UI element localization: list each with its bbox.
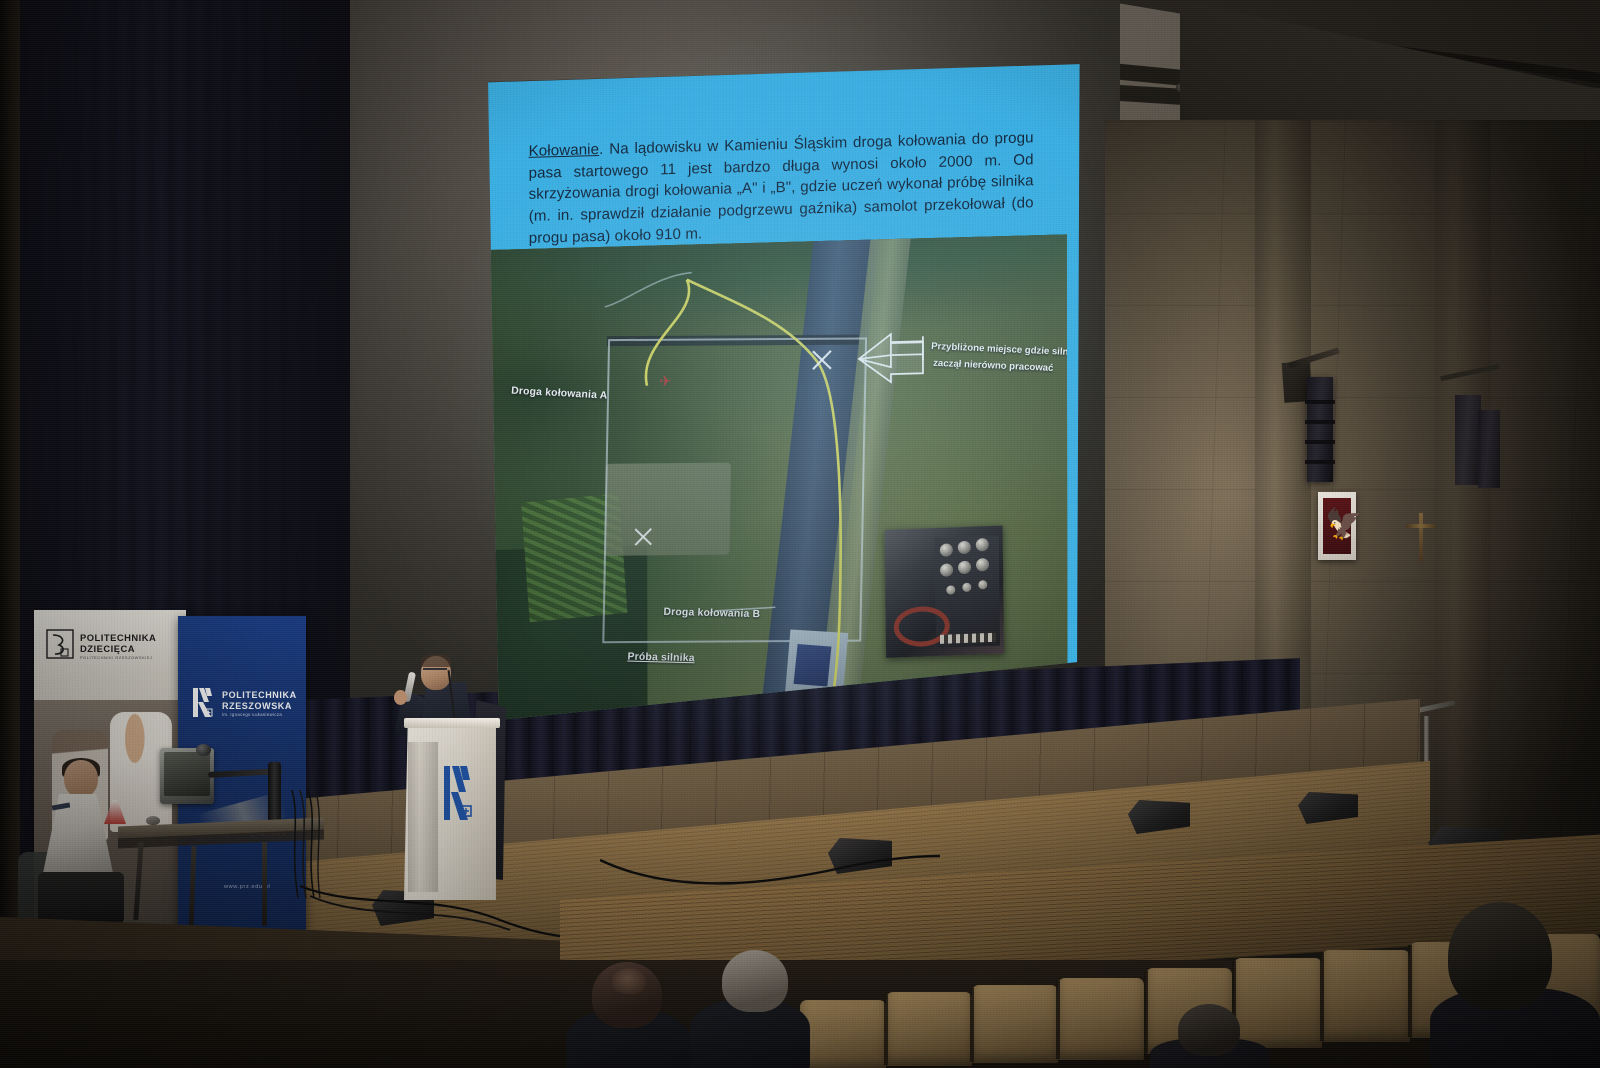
crucifix-icon bbox=[1406, 524, 1436, 528]
banner-white-logo: POLITECHNIKA DZIECIĘCA POLITECHNIKI RZES… bbox=[46, 628, 174, 662]
glasses-icon bbox=[423, 668, 447, 675]
auditorium-seat bbox=[1058, 978, 1144, 1060]
crucifix-icon bbox=[1419, 513, 1423, 561]
slide-text-block: Kołowanie. Na lądowisku w Kamieniu Śląsk… bbox=[529, 127, 1034, 249]
auditorium-photo: 🦅 Kołowanie. Na lądowisku w Kamieniu Ślą… bbox=[0, 0, 1600, 1068]
presenter-hand bbox=[394, 690, 407, 705]
aerial-photo: ✈ Droga kołowania A Droga kołowania B Pr… bbox=[487, 234, 1068, 725]
technician-head bbox=[64, 760, 98, 798]
slide: Kołowanie. Na lądowisku w Kamieniu Śląsk… bbox=[484, 61, 1085, 722]
technician-lap bbox=[38, 872, 124, 924]
auditorium-seat bbox=[972, 985, 1058, 1063]
slide-body: . Na lądowisku w Kamieniu Śląskim droga … bbox=[529, 129, 1034, 247]
webcam-icon bbox=[196, 744, 211, 756]
auditorium-seat bbox=[886, 992, 972, 1066]
svg-text:POLITECHNIKA: POLITECHNIKA bbox=[80, 632, 156, 643]
cockpit-inset-photo bbox=[885, 526, 1005, 658]
svg-text:im. Ignacego Łukasiewicza: im. Ignacego Łukasiewicza bbox=[222, 712, 282, 717]
svg-text:RZESZOWSKA: RZESZOWSKA bbox=[222, 701, 292, 711]
banner-blue-logo: POLITECHNIKA RZESZOWSKA im. Ignacego Łuk… bbox=[190, 684, 296, 720]
lectern-top bbox=[404, 718, 500, 728]
eagle-icon: 🦅 bbox=[1325, 503, 1349, 547]
projection-screen: Kołowanie. Na lądowisku w Kamieniu Śląsk… bbox=[485, 62, 1085, 722]
label-runway-threshold: PS 11 bbox=[799, 693, 828, 704]
svg-text:POLITECHNIKA: POLITECHNIKA bbox=[222, 690, 296, 700]
control-monitor-screen[interactable] bbox=[164, 752, 210, 796]
av-technician bbox=[38, 760, 126, 920]
audience-member-head bbox=[722, 950, 788, 1012]
presenter-hair bbox=[421, 654, 451, 667]
computer-mouse[interactable] bbox=[146, 816, 160, 825]
svg-text:POLITECHNIKI RZESZOWSKIEJ: POLITECHNIKI RZESZOWSKIEJ bbox=[80, 655, 153, 660]
line-array-speaker bbox=[1478, 410, 1500, 488]
audience-member-bald-spot bbox=[612, 968, 646, 994]
auditorium-seat bbox=[1322, 950, 1410, 1042]
svg-text:DZIECIĘCA: DZIECIĘCA bbox=[80, 643, 135, 654]
line-array-speaker bbox=[1307, 377, 1333, 482]
slide-heading: Kołowanie bbox=[529, 141, 600, 160]
auditorium-seat bbox=[800, 1000, 886, 1068]
auditorium-seat bbox=[1234, 958, 1322, 1048]
university-logo-icon bbox=[440, 762, 474, 824]
audience-member-head bbox=[1448, 902, 1552, 1010]
audience-member-head bbox=[1178, 1004, 1240, 1056]
